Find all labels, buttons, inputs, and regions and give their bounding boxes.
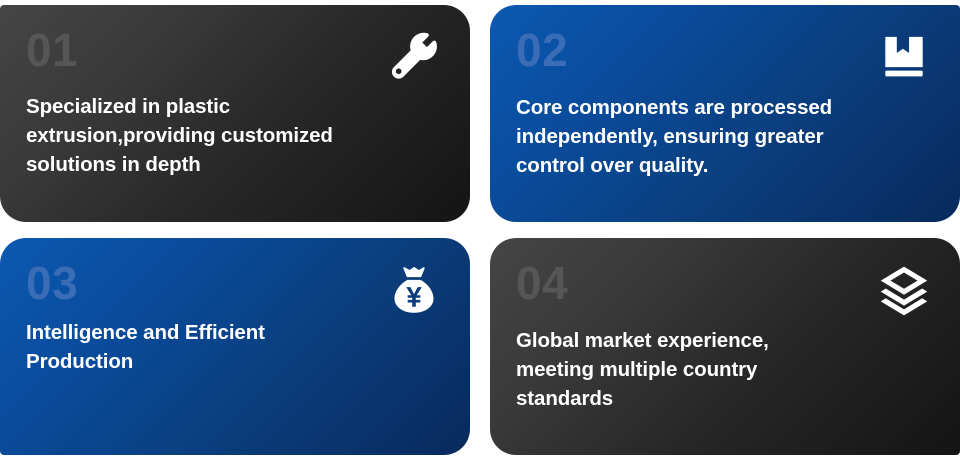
layers-stack-icon (876, 262, 932, 318)
card-headline: Specialized in plastic extrusion,providi… (26, 92, 444, 179)
feature-card-03[interactable]: 03Intelligence and Efficient Production (0, 238, 470, 455)
card-headline: Global market experience, meeting multip… (516, 326, 934, 413)
wrench-icon (386, 29, 442, 85)
card-content: 03Intelligence and Efficient Production (0, 238, 470, 455)
feature-card-04[interactable]: 04Global market experience, meeting mult… (490, 238, 960, 455)
card-content: 01Specialized in plastic extrusion,provi… (0, 5, 470, 222)
feature-card-grid: 01Specialized in plastic extrusion,provi… (0, 0, 960, 459)
card-number: 03 (26, 260, 444, 306)
card-number: 02 (516, 27, 934, 73)
feature-card-02[interactable]: 02Core components are processed independ… (490, 5, 960, 222)
card-content: 04Global market experience, meeting mult… (490, 238, 960, 455)
card-headline: Intelligence and Efficient Production (26, 318, 444, 376)
card-content: 02Core components are processed independ… (490, 5, 960, 222)
card-headline: Core components are processed independen… (516, 93, 934, 180)
book-bookmark-icon (876, 29, 932, 85)
card-number: 01 (26, 27, 444, 73)
feature-card-01[interactable]: 01Specialized in plastic extrusion,provi… (0, 5, 470, 222)
card-number: 04 (516, 260, 934, 306)
money-bag-yen-icon (386, 262, 442, 318)
